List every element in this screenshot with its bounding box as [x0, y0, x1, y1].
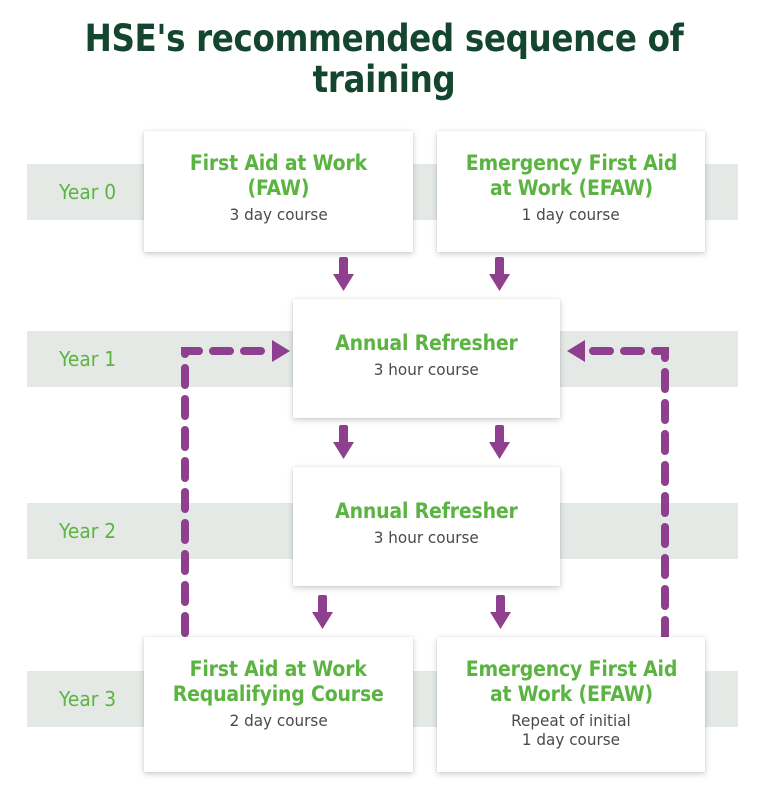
course-box-faw-requal[interactable]: First Aid at Work Requalifying Course 2 … [144, 637, 413, 772]
year-label-3: Year 3 [59, 671, 116, 727]
course-box-efaw[interactable]: Emergency First Aid at Work (EFAW) 1 day… [437, 131, 705, 252]
arrow-down-refresher1-to-refresher2-right [489, 425, 510, 459]
course-title-efaw-repeat: Emergency First Aid at Work (EFAW) [465, 657, 676, 707]
arrow-down-faw-to-refresher [333, 257, 354, 291]
course-box-annual-refresher-y2[interactable]: Annual Refresher 3 hour course [293, 467, 560, 586]
arrow-down-refresher2-to-efaw-repeat [490, 595, 511, 629]
course-subtitle-annual-refresher-y1: 3 hour course [374, 360, 479, 380]
year-label-0: Year 0 [59, 164, 116, 220]
course-subtitle-annual-refresher-y2: 3 hour course [374, 528, 479, 548]
course-subtitle-efaw: 1 day course [522, 205, 620, 225]
course-box-faw[interactable]: First Aid at Work (FAW) 3 day course [144, 131, 413, 252]
arrow-down-refresher1-to-refresher2-left [333, 425, 354, 459]
arrow-down-refresher2-to-faw-requal [312, 595, 333, 629]
course-subtitle-faw-requal: 2 day course [229, 711, 327, 731]
year-label-2: Year 2 [59, 503, 116, 559]
course-title-faw-requal: First Aid at Work Requalifying Course [173, 657, 384, 707]
diagram-canvas: HSE's recommended sequence of training Y… [0, 0, 768, 802]
course-subtitle-faw: 3 day course [229, 205, 327, 225]
year-label-1: Year 1 [59, 331, 116, 387]
course-box-annual-refresher-y1[interactable]: Annual Refresher 3 hour course [293, 299, 560, 418]
course-title-efaw: Emergency First Aid at Work (EFAW) [465, 151, 676, 201]
course-box-efaw-repeat[interactable]: Emergency First Aid at Work (EFAW) Repea… [437, 637, 705, 772]
page-title: HSE's recommended sequence of training [46, 18, 722, 101]
course-title-faw: First Aid at Work (FAW) [190, 151, 367, 201]
course-title-annual-refresher-y1: Annual Refresher [335, 331, 518, 356]
course-title-annual-refresher-y2: Annual Refresher [335, 499, 518, 524]
arrow-down-efaw-to-refresher [489, 257, 510, 291]
course-subtitle-efaw-repeat: Repeat of initial 1 day course [511, 711, 631, 750]
